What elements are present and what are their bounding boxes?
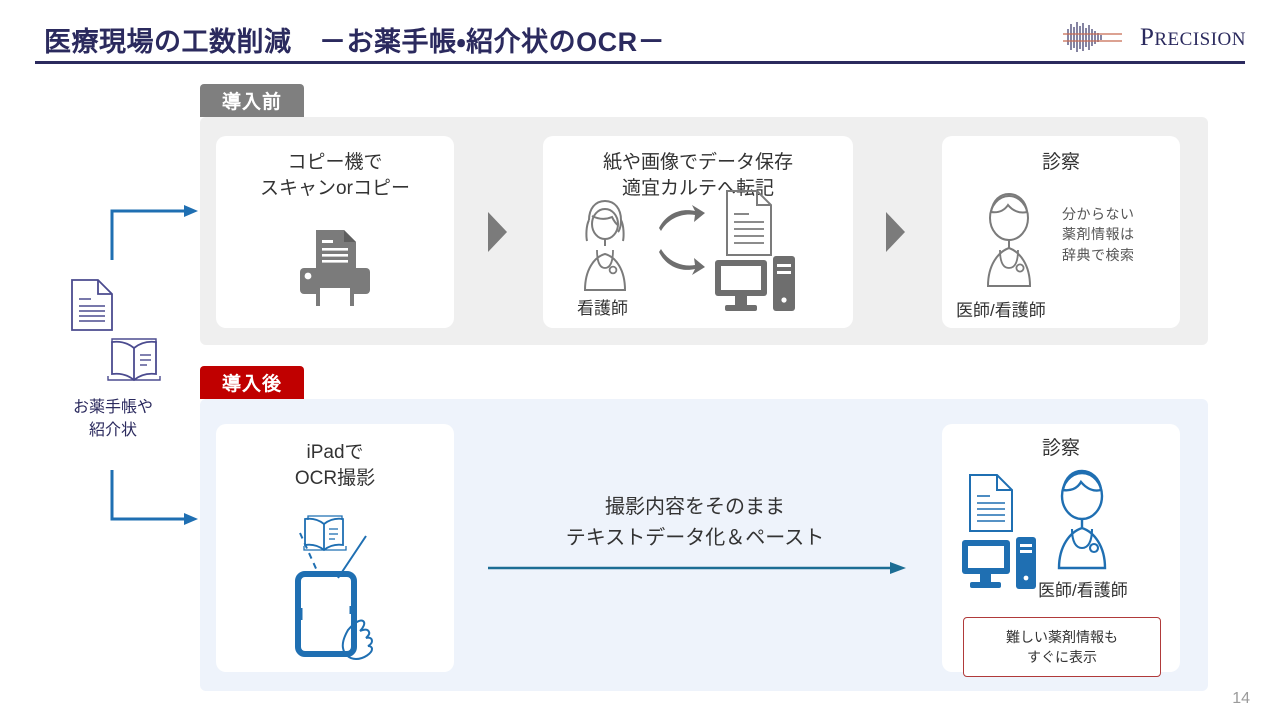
desktop-pc-icon [713,254,797,316]
long-arrow-right-icon [488,560,908,576]
brand-name: PRECISION [1140,25,1246,50]
header-divider [35,61,1245,64]
page-number: 14 [1232,690,1250,708]
document-icon-blue [966,472,1016,534]
triangle-right-icon-2 [886,212,905,252]
nurse-icon [559,194,651,294]
card-examination-after-caption: 医師/看護師 [1038,576,1128,601]
card-examination-after-title: 診察 [942,436,1180,462]
card-examination-before-note: 分からない 薬剤情報は 辞典で検索 [1062,204,1135,265]
card-ipad-ocr-title: iPadで OCR撮影 [216,440,454,491]
document-icon-source [68,277,116,333]
flow-description: 撮影内容をそのまま テキストデータ化＆ペースト [470,492,920,554]
waveform-icon [1060,20,1132,54]
page-title: 医療現場の工数削減 －お薬手帳・紹介状のOCR－ [44,20,665,59]
curved-arrow-icon-up [655,204,707,234]
card-scan-copy-title: コピー機で スキャンorコピー [216,150,454,201]
card-paper-storage: 紙や画像でデータ保存 適宜カルテへ転記 看護師 [543,136,853,328]
doctor-icon-blue [1034,464,1130,572]
desktop-pc-icon-blue [960,536,1038,594]
arrow-to-after-section [105,470,200,530]
card-paper-storage-caption: 看護師 [577,294,628,319]
callout-quick-display: 難しい薬剤情報も すぐに表示 [963,617,1161,677]
card-scan-copy: コピー機で スキャンorコピー [216,136,454,328]
medicine-notebook-icon [104,336,164,384]
source-label: お薬手帳や 紹介状 [40,396,186,442]
doctor-icon [964,188,1054,290]
card-examination-before-title: 診察 [942,150,1180,176]
card-examination-before: 診察 分からない 薬剤情報は 辞典で検索 医師/看護師 [942,136,1180,328]
tablet-ocr-icon [256,502,416,662]
tab-after: 導入後 [200,366,304,399]
slide-root: 医療現場の工数削減 －お薬手帳・紹介状のOCR－ [0,0,1280,720]
card-examination-before-caption: 医師/看護師 [956,296,1046,321]
tab-before: 導入前 [200,84,304,117]
brand-logo: PRECISION [1060,18,1246,56]
card-ipad-ocr: iPadで OCR撮影 [216,424,454,672]
printer-icon [292,226,378,306]
curved-arrow-icon-down [655,248,707,278]
triangle-right-icon-1 [488,212,507,252]
document-icon [721,188,777,258]
arrow-to-before-section [105,204,200,260]
